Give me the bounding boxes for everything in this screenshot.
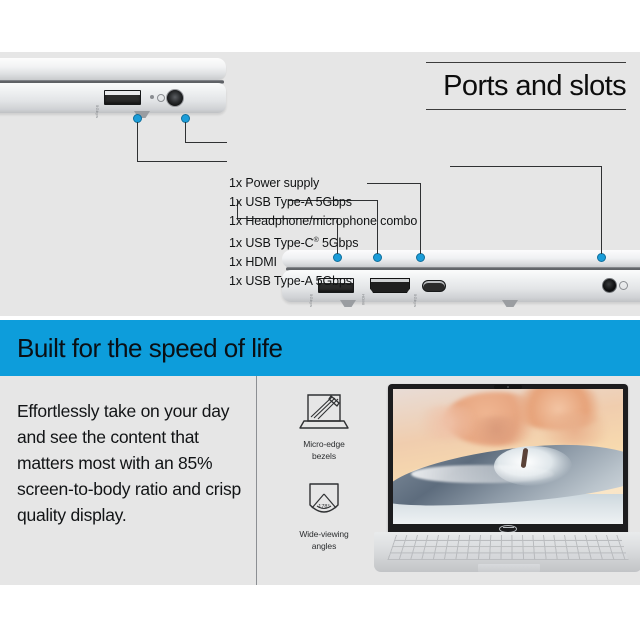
feature-item-wide-viewing-angles: 178° Wide-viewing angles	[278, 480, 370, 552]
speed-banner: Built for the speed of life	[0, 320, 640, 376]
wallpaper-cloud	[531, 413, 618, 445]
laptop-left-side-view: 5Gbps	[0, 58, 226, 120]
caption-line-1: Wide-viewing	[278, 528, 370, 540]
title-rule-bottom	[426, 109, 626, 110]
leader-line	[601, 166, 602, 254]
power-connector-port	[166, 89, 184, 107]
leader-line	[185, 142, 227, 143]
feature-item-micro-edge-bezels: Micro-edge bezels	[278, 390, 370, 462]
laptop-foot	[340, 300, 356, 307]
vertical-divider	[256, 376, 257, 585]
usb-c-port-label: 5Gbps	[413, 294, 418, 307]
ports-and-slots-panel: Ports and slots 5Gbps 5Gbps HDMI	[0, 52, 640, 316]
usb-a-port-top	[104, 90, 141, 105]
callout-label-headphone-combo: 1x Headphone/microphone combo	[229, 212, 529, 231]
callout-label-hdmi: 1x HDMI	[229, 253, 529, 272]
wide-viewing-angles-icon: 178°	[278, 480, 370, 524]
laptop-touchpad	[478, 564, 540, 572]
leader-line	[185, 122, 186, 143]
laptop-screen-wallpaper	[393, 389, 623, 524]
caption-line-2: bezels	[278, 450, 370, 462]
power-indicator-icon	[157, 94, 165, 102]
leader-line	[137, 161, 227, 162]
hdmi-port-label: HDMI	[361, 294, 366, 305]
callout-label-power-supply: 1x Power supply	[229, 174, 529, 193]
caption-line-2: angles	[278, 540, 370, 552]
page-title: Ports and slots	[426, 63, 626, 109]
laptop-hero-image	[374, 384, 640, 584]
webcam-icon	[494, 385, 522, 389]
ports-callout-list: 1x Power supply 1x USB Type-A 5Gbps 1x H…	[229, 174, 529, 291]
usb-a-bottom-port-label: 5Gbps	[309, 294, 314, 307]
usb-a-top-port-label: 5Gbps	[95, 105, 100, 118]
laptop-lid-edge	[0, 58, 226, 80]
status-led	[150, 95, 154, 99]
wide-viewing-angles-caption: Wide-viewing angles	[278, 528, 370, 552]
laptop-display-bezel	[388, 384, 628, 534]
callout-usb-c-text: 1x USB Type-C	[229, 236, 314, 250]
product-infographic-page: Ports and slots 5Gbps 5Gbps HDMI	[0, 0, 640, 640]
laptop-keyboard	[387, 535, 628, 560]
laptop-foot	[502, 300, 518, 307]
feature-body-text: Effortlessly take on your day and see th…	[17, 398, 245, 528]
banner-title: Built for the speed of life	[17, 328, 282, 368]
ports-title-block: Ports and slots	[426, 62, 626, 110]
callout-label-usb-c: 1x USB Type-C® 5Gbps	[229, 231, 529, 253]
headphone-icon	[619, 281, 628, 290]
callout-dot-headphone	[597, 253, 606, 262]
feature-icon-column: Micro-edge bezels 178° Wide-viewing	[278, 390, 370, 552]
callout-label-usb-a-top: 1x USB Type-A 5Gbps	[229, 193, 529, 212]
micro-edge-bezels-icon	[278, 390, 370, 434]
display-feature-panel: Effortlessly take on your day and see th…	[0, 376, 640, 585]
callout-usb-c-suffix: 5Gbps	[319, 236, 359, 250]
viewing-angle-degrees: 178°	[318, 504, 329, 510]
wallpaper-cloud	[462, 416, 531, 443]
leader-line	[137, 122, 138, 162]
leader-line	[450, 166, 602, 167]
headphone-jack-port	[602, 278, 617, 293]
micro-edge-bezels-caption: Micro-edge bezels	[278, 438, 370, 462]
caption-line-1: Micro-edge	[278, 438, 370, 450]
callout-label-usb-a-bottom: 1x USB Type-A 5Gbps	[229, 272, 529, 291]
